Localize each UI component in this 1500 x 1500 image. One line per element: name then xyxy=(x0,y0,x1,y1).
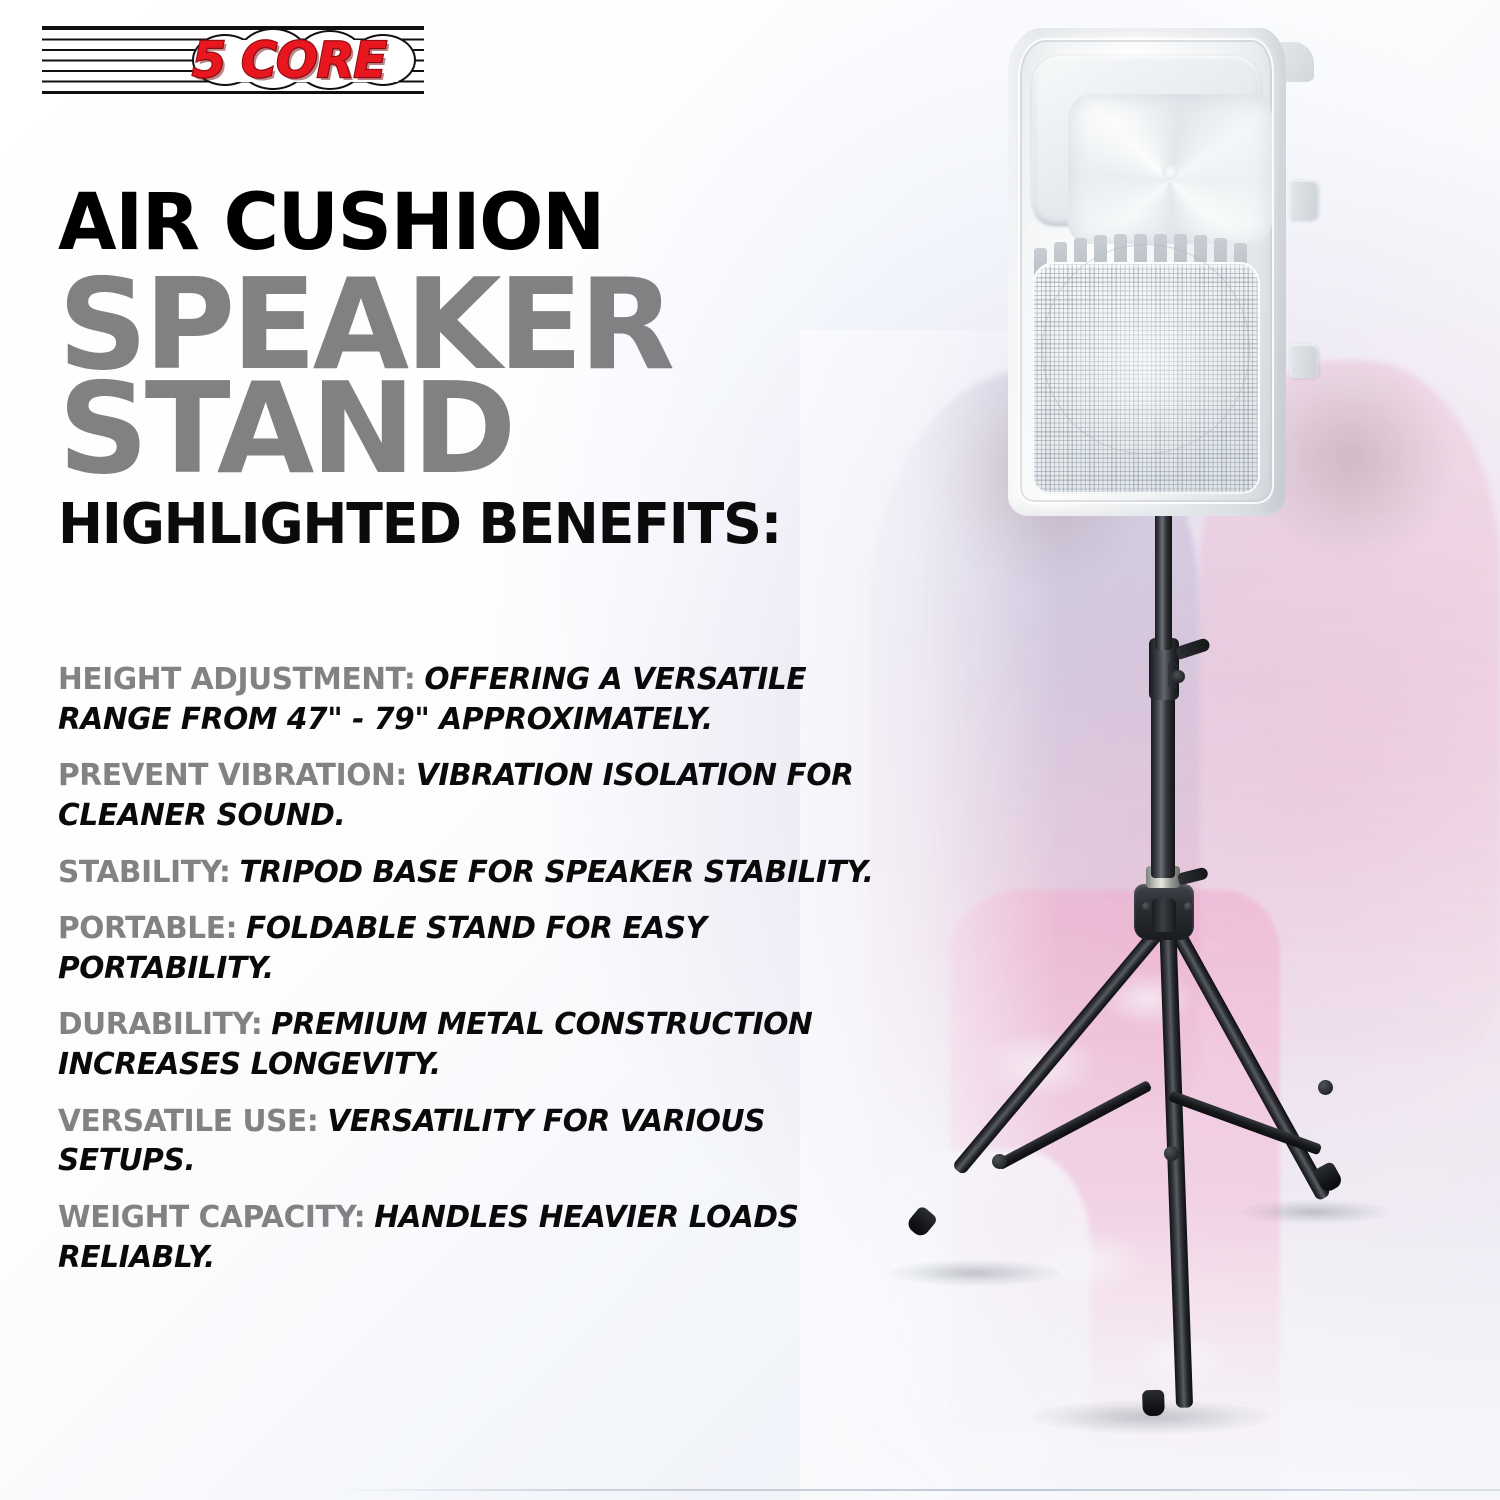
benefit-item: STABILITY: TRIPOD BASE FOR SPEAKER STABI… xyxy=(58,853,883,893)
benefit-description: TRIPOD BASE FOR SPEAKER STABILITY. xyxy=(240,855,874,890)
stand-ground-shadow xyxy=(890,1260,1060,1286)
benefit-label: WEIGHT CAPACITY: xyxy=(58,1200,365,1235)
benefit-label: HEIGHT ADJUSTMENT: xyxy=(58,662,415,697)
product-infographic-poster: 5 CORE AIR CUSHION SPEAKER STAND HIGHLIG… xyxy=(0,0,1500,1500)
collar-tightening-knob[interactable] xyxy=(1177,867,1209,886)
floor-line xyxy=(330,1489,1500,1491)
headline-block: AIR CUSHION SPEAKER STAND HIGHLIGHTED BE… xyxy=(58,186,918,553)
pa-speaker xyxy=(1008,28,1324,520)
hub-bolt xyxy=(1184,902,1193,911)
tripod-brace-hinge xyxy=(992,1154,1007,1169)
benefit-item: PREVENT VIBRATION: VIBRATION ISOLATION F… xyxy=(58,756,883,835)
stand-ground-shadow xyxy=(1240,1200,1390,1224)
hub-bolt xyxy=(1142,902,1151,911)
benefit-label: STABILITY: xyxy=(58,855,230,890)
benefit-item: PORTABLE: FOLDABLE STAND FOR EASY PORTAB… xyxy=(58,909,883,988)
tripod-leg-center xyxy=(1159,918,1193,1408)
benefit-item: WEIGHT CAPACITY: HANDLES HEAVIER LOADS R… xyxy=(58,1198,883,1277)
benefit-item: VERSATILE USE: VERSATILITY FOR VARIOUS S… xyxy=(58,1102,883,1181)
woofer-outline xyxy=(1042,244,1250,454)
benefit-label: PREVENT VIBRATION: xyxy=(58,758,407,793)
tripod-speaker-stand xyxy=(880,470,1380,1430)
benefits-list: HEIGHT ADJUSTMENT: OFFERING A VERSATILE … xyxy=(58,660,908,1294)
headline-line-air-cushion: AIR CUSHION xyxy=(58,186,892,261)
benefit-label: PORTABLE: xyxy=(58,911,237,946)
clamp-pin[interactable] xyxy=(1172,670,1185,683)
speaker-horn-frame xyxy=(1032,56,1260,226)
speaker-handle-top xyxy=(1290,180,1318,220)
tripod-foot-center xyxy=(1142,1390,1165,1417)
speaker-horn-tweeter xyxy=(1068,94,1272,244)
benefit-item: DURABILITY: PREMIUM METAL CONSTRUCTION I… xyxy=(58,1005,883,1084)
benefit-item: HEIGHT ADJUSTMENT: OFFERING A VERSATILE … xyxy=(58,660,883,739)
benefit-label: DURABILITY: xyxy=(58,1007,262,1042)
headline-subheading: HIGHLIGHTED BENEFITS: xyxy=(58,497,884,553)
tripod-brace-hinge xyxy=(1164,1146,1179,1161)
tripod-brace-right xyxy=(1168,1090,1322,1155)
logo-wordmark: 5 CORE xyxy=(192,31,422,89)
tripod-brace-hinge xyxy=(1318,1080,1333,1095)
speaker-woofer-grille xyxy=(1032,262,1260,494)
tripod-leg-right xyxy=(1163,914,1331,1201)
speaker-handle-bottom xyxy=(1290,344,1318,378)
five-core-logo: 5 CORE xyxy=(42,26,424,94)
height-adjustment-knob[interactable] xyxy=(1175,637,1211,660)
headline-line-speaker: SPEAKER xyxy=(58,267,909,383)
tripod-foot-left xyxy=(905,1205,939,1239)
tripod-hub xyxy=(1134,884,1194,940)
benefit-label: VERSATILE USE: xyxy=(58,1104,318,1139)
stand-lower-shaft xyxy=(1151,692,1175,878)
